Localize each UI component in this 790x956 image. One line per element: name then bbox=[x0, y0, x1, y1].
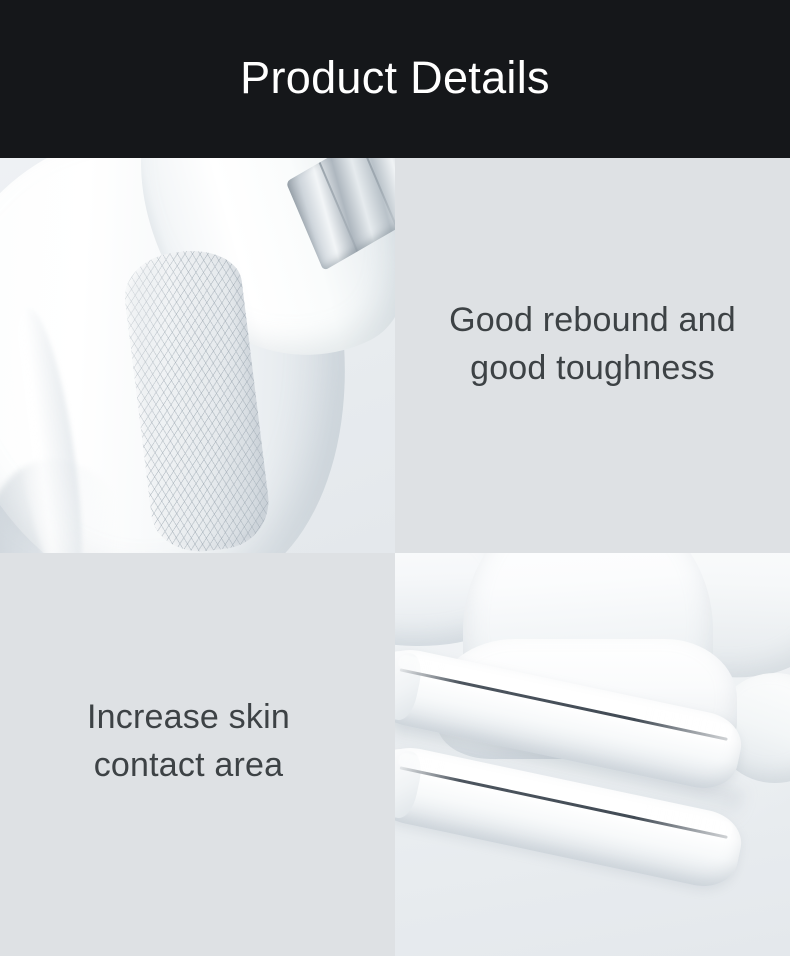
caption-line-1: Good rebound and bbox=[395, 296, 790, 344]
panel-bottom-right-photo bbox=[395, 553, 790, 956]
chrome-seam-line bbox=[359, 158, 395, 229]
page-title: Product Details bbox=[240, 55, 550, 104]
panel-bottom-left-caption: Increase skin contact area bbox=[0, 553, 395, 956]
caption-line-2: contact area bbox=[0, 741, 377, 789]
product-photo-handle bbox=[0, 158, 395, 553]
product-details-page: Product Details Good rebound and good to… bbox=[0, 0, 790, 956]
product-photo-head bbox=[395, 553, 790, 956]
caption-increase-skin-contact: Increase skin contact area bbox=[0, 693, 395, 790]
chrome-seam-line bbox=[319, 162, 359, 252]
panel-top-right-caption: Good rebound and good toughness bbox=[395, 158, 790, 553]
caption-line-1: Increase skin bbox=[0, 693, 377, 741]
header-banner: Product Details bbox=[0, 0, 790, 158]
caption-good-rebound: Good rebound and good toughness bbox=[395, 296, 790, 393]
panel-top-left-photo bbox=[0, 158, 395, 553]
caption-line-2: good toughness bbox=[395, 344, 790, 392]
